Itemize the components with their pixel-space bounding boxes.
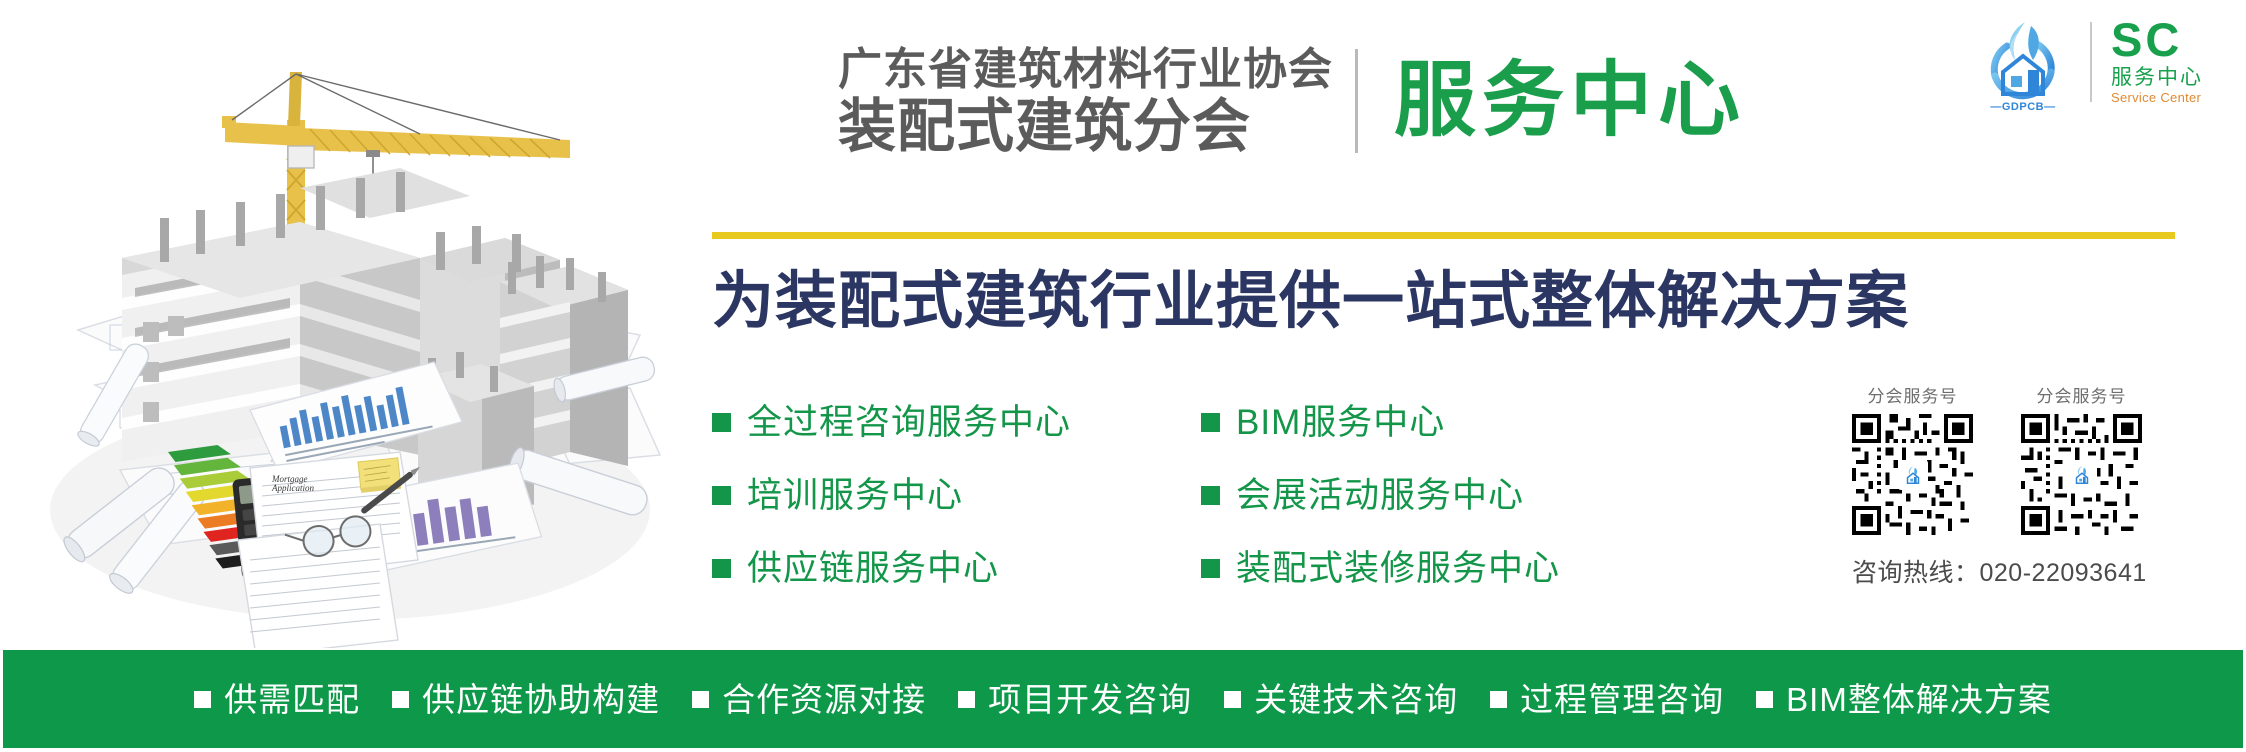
service-label: 装配式装修服务中心 (1236, 551, 1560, 586)
list-item[interactable]: 关键技术咨询 (1224, 683, 1458, 716)
logo-vertical-divider (2090, 22, 2092, 102)
construction-site-3d-render-icon: Mortgage Application (0, 0, 690, 648)
list-item[interactable]: 供应链服务中心 (712, 551, 1071, 586)
square-bullet-icon (1201, 413, 1220, 432)
service-list-right: BIM服务中心 会展活动服务中心 装配式装修服务中心 (1201, 405, 1560, 586)
hotline-text: 咨询热线：020-22093641 (1852, 553, 2147, 589)
yellow-divider-rule (712, 232, 2175, 239)
brand-logo[interactable]: —GDPCB— SC 服务中心 Service Center (1975, 14, 2203, 110)
list-item[interactable]: 会展活动服务中心 (1201, 478, 1560, 513)
association-name: 广东省建筑材料行业协会 装配式建筑分会 (838, 46, 1333, 157)
footer-label: 项目开发咨询 (988, 683, 1192, 716)
list-item[interactable]: BIM整体解决方案 (1756, 683, 2052, 716)
gdpcb-house-leaf-icon: —GDPCB— (1975, 14, 2071, 110)
qr-center-logo-icon (1898, 460, 1928, 490)
square-bullet-icon (194, 691, 211, 708)
svg-text:Application: Application (271, 483, 314, 493)
list-item[interactable]: 项目开发咨询 (958, 683, 1192, 716)
page-subtitle: 为装配式建筑行业提供一站式整体解决方案 (712, 250, 1909, 340)
service-label: 会展活动服务中心 (1236, 478, 1524, 513)
footer-capability-bar: 供需匹配 供应链协助构建 合作资源对接 项目开发咨询 关键技术咨询 过程管理咨询… (3, 650, 2243, 748)
qr-code-icon[interactable] (1852, 414, 1973, 535)
service-label: BIM服务中心 (1236, 405, 1445, 440)
qr-code-icon[interactable] (2021, 414, 2142, 535)
service-center-title: 服务中心 (1394, 60, 1746, 142)
square-bullet-icon (392, 691, 409, 708)
square-bullet-icon (692, 691, 709, 708)
banner-root: Mortgage Application (0, 0, 2246, 752)
square-bullet-icon (1224, 691, 1241, 708)
qr-block: 分会服务号 (2021, 382, 2142, 535)
construction-hero-image: Mortgage Application (0, 0, 690, 648)
service-label: 供应链服务中心 (747, 551, 999, 586)
footer-label: 供需匹配 (224, 683, 360, 716)
header-title-block: 广东省建筑材料行业协会 装配式建筑分会 服务中心 (838, 46, 1746, 157)
logo-text-block: SC 服务中心 Service Center (2111, 18, 2203, 105)
square-bullet-icon (1201, 486, 1220, 505)
footer-label: 供应链协助构建 (422, 683, 660, 716)
footer-label: 过程管理咨询 (1520, 683, 1724, 716)
list-item[interactable]: 合作资源对接 (692, 683, 926, 716)
square-bullet-icon (1756, 691, 1773, 708)
list-item[interactable]: 装配式装修服务中心 (1201, 551, 1560, 586)
logo-mark-caption: —GDPCB— (1975, 101, 2071, 113)
service-label: 培训服务中心 (747, 478, 963, 513)
service-list-left: 全过程咨询服务中心 培训服务中心 供应链服务中心 (712, 405, 1071, 586)
qr-block: 分会服务号 (1852, 382, 1973, 535)
service-label: 全过程咨询服务中心 (747, 405, 1071, 440)
square-bullet-icon (1201, 559, 1220, 578)
square-bullet-icon (712, 413, 731, 432)
list-item[interactable]: BIM服务中心 (1201, 405, 1560, 440)
qr-center-logo-icon (2067, 460, 2097, 490)
qr-code-area: 分会服务号 (1852, 382, 2142, 535)
square-bullet-icon (1490, 691, 1507, 708)
square-bullet-icon (712, 559, 731, 578)
list-item[interactable]: 过程管理咨询 (1490, 683, 1724, 716)
logo-english-label: Service Center (2111, 90, 2203, 106)
list-item[interactable]: 培训服务中心 (712, 478, 1071, 513)
list-item[interactable]: 供需匹配 (194, 683, 360, 716)
association-name-line1: 广东省建筑材料行业协会 (838, 46, 1333, 94)
logo-chinese-label: 服务中心 (2111, 65, 2203, 90)
service-center-lists: 全过程咨询服务中心 培训服务中心 供应链服务中心 BIM服务中心 会展活动服务中… (712, 405, 1560, 586)
footer-label: 合作资源对接 (722, 683, 926, 716)
square-bullet-icon (958, 691, 975, 708)
logo-initials: SC (2111, 18, 2203, 63)
list-item[interactable]: 供应链协助构建 (392, 683, 660, 716)
list-item[interactable]: 全过程咨询服务中心 (712, 405, 1071, 440)
footer-label: 关键技术咨询 (1254, 683, 1458, 716)
qr-caption: 分会服务号 (2037, 382, 2127, 407)
footer-label: BIM整体解决方案 (1786, 683, 2052, 716)
title-vertical-divider (1355, 49, 1358, 153)
qr-caption: 分会服务号 (1868, 382, 1958, 407)
association-name-line2: 装配式建筑分会 (838, 96, 1333, 157)
square-bullet-icon (712, 486, 731, 505)
